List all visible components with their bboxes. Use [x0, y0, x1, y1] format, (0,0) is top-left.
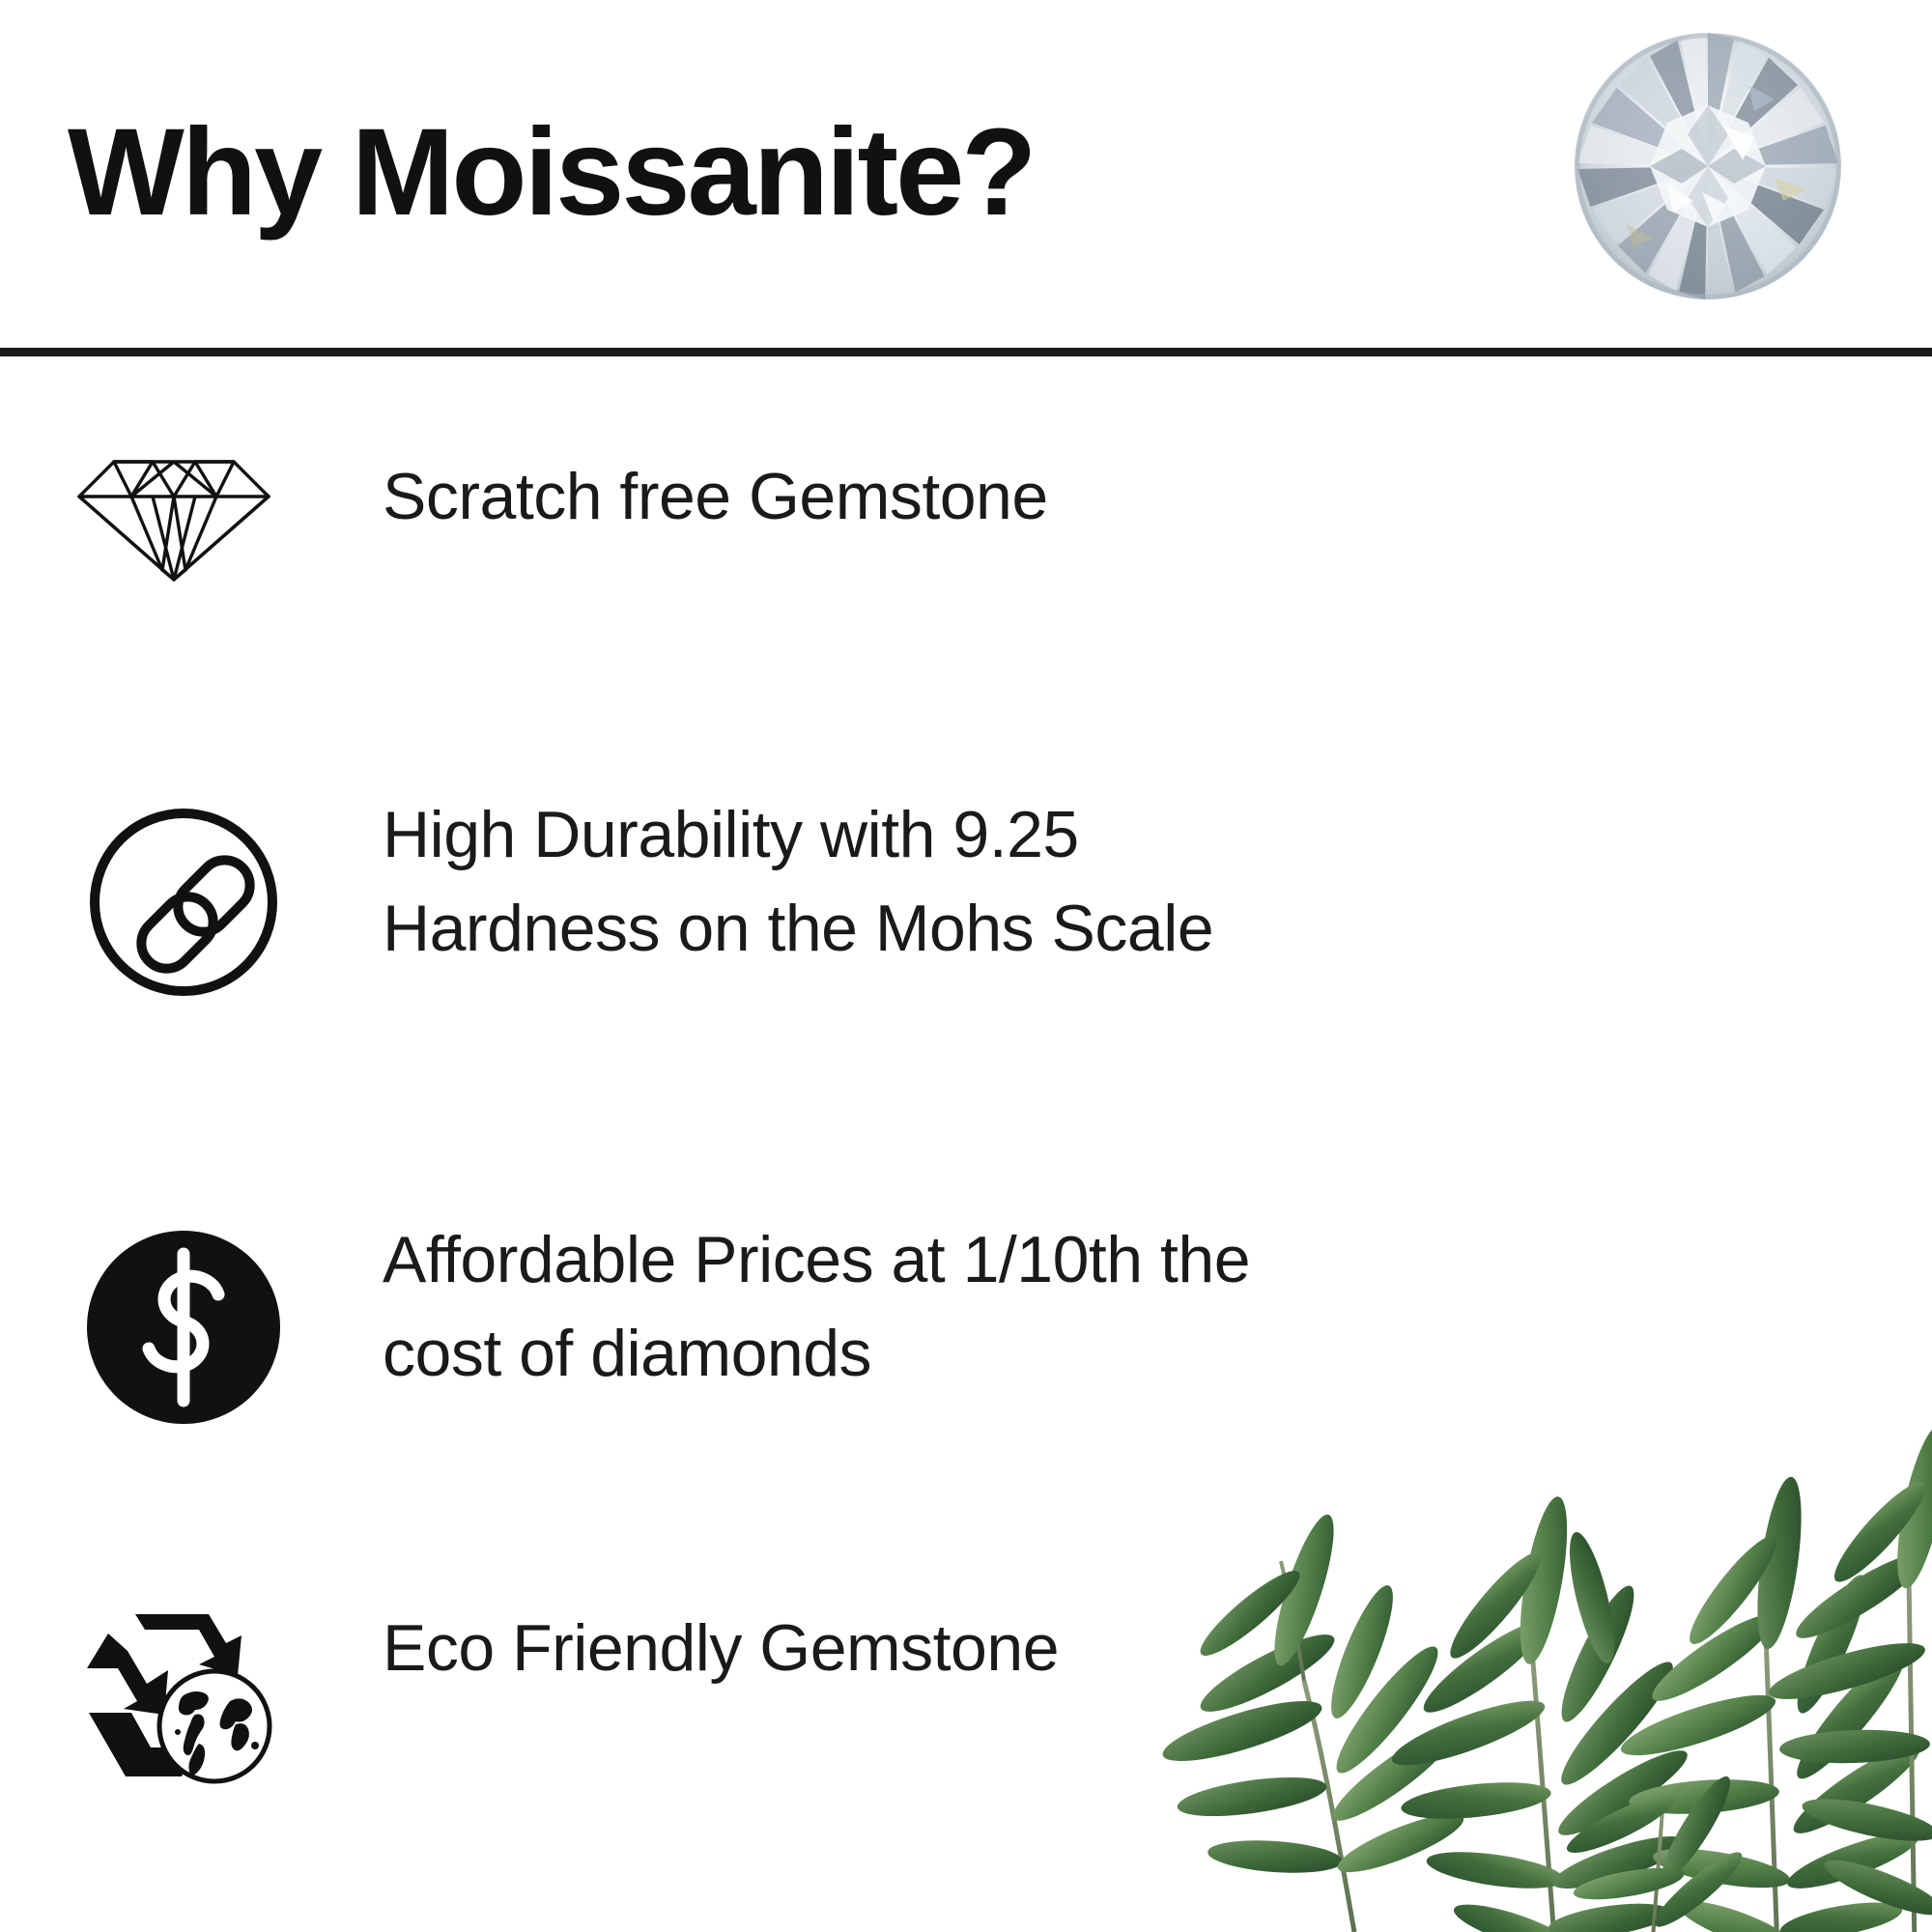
feature-text: Eco Friendly Gemstone	[383, 1602, 1638, 1695]
feature-line: High Durability with 9.25	[383, 798, 1079, 871]
feature-list: Scratch free Gemstone High Durability wi…	[0, 354, 1932, 1932]
dollar-coin-icon	[83, 1227, 284, 1428]
feature-row: Scratch free Gemstone	[0, 354, 1932, 759]
feature-text: Affordable Prices at 1/10th thecost of d…	[383, 1213, 1832, 1400]
feature-row: High Durability with 9.25Hardness on the…	[0, 759, 1932, 1184]
feature-row: Affordable Prices at 1/10th thecost of d…	[0, 1184, 1932, 1609]
infographic-page: Why Moissanite?	[0, 0, 1932, 1932]
feature-line: cost of diamonds	[383, 1317, 871, 1390]
page-title: Why Moissanite?	[68, 106, 1034, 240]
header: Why Moissanite?	[0, 0, 1932, 354]
feature-text: Scratch free Gemstone	[383, 450, 1754, 544]
chain-link-circle-icon	[83, 802, 284, 1003]
feature-row: Eco Friendly Gemstone	[0, 1609, 1932, 1932]
feature-text: High Durability with 9.25Hardness on the…	[383, 788, 1812, 975]
moissanite-gem-photo	[1553, 21, 1862, 311]
diamond-outline-icon	[70, 450, 278, 585]
feature-line: Affordable Prices at 1/10th the	[383, 1223, 1250, 1296]
feature-line: Hardness on the Mohs Scale	[383, 892, 1213, 965]
recycle-globe-icon	[75, 1601, 286, 1794]
